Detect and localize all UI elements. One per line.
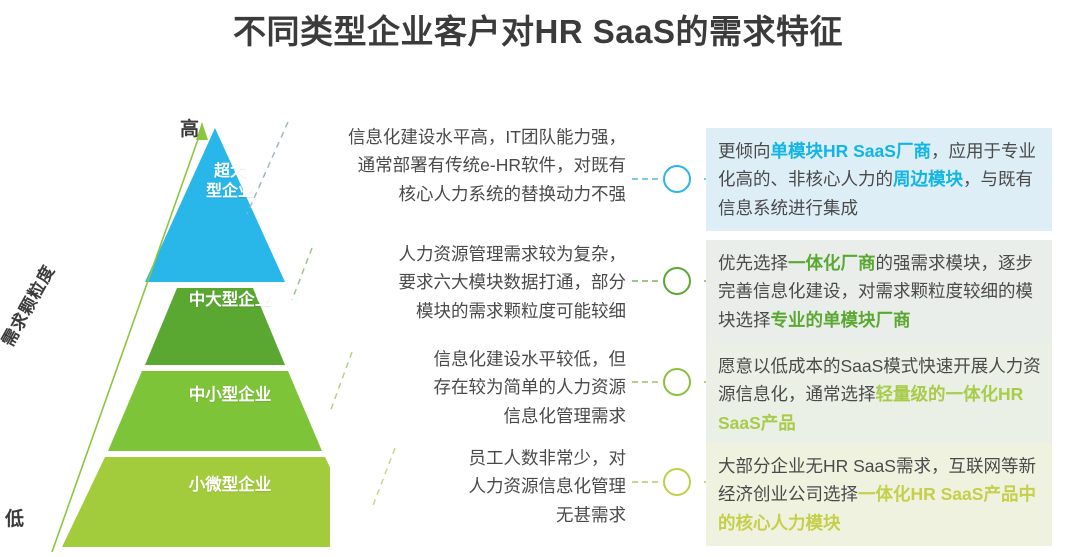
conclusion-panel-4: 大部分企业无HR SaaS需求，互联网等新经济创业公司选择一体化HR SaaS产… <box>706 443 1052 546</box>
axis-high-label: 高 <box>180 114 199 141</box>
description-text-2: 人力资源管理需求较为复杂， 要求六大模块数据打通，部分 模块的需求颗粒度可能较细 <box>336 240 626 325</box>
description-text-3: 信息化建设水平较低，但 存在较为简单的人力资源 信息化管理需求 <box>366 345 626 430</box>
pyramid-chart: 超大 型企业 中大型企业 中小型企业 小微型企业 高 低 需求颗粒度 <box>0 100 330 557</box>
connector-4-dash-left <box>632 481 658 483</box>
panel-1-segment-4: 周边模块 <box>893 169 963 189</box>
page-title: 不同类型企业客户对HR SaaS的需求特征 <box>0 8 1076 56</box>
axis-low-label: 低 <box>5 504 24 531</box>
conclusion-panel-2: 优先选择一体化厂商的强需求模块，逐步完善信息化建设，对需求颗粒度较细的模块选择专… <box>706 240 1052 343</box>
connector-2-dash-left <box>632 280 658 282</box>
conclusion-panel-3: 愿意以低成本的SaaS模式快速开展人力资源信息化，通常选择轻量级的一体化HR S… <box>706 343 1052 446</box>
infographic-page: 不同类型企业客户对HR SaaS的需求特征 超大 型企业 中大型企业 中小型企业… <box>0 0 1076 557</box>
connector-1-dash-left <box>632 178 658 180</box>
connector-4-circle <box>663 468 691 496</box>
pyramid-tier-3-shape <box>108 371 322 451</box>
panel-2-segment-4: 专业的单模块厂商 <box>771 310 911 330</box>
connector-1-circle <box>663 165 691 193</box>
pyramid-tier-4-shape <box>62 457 330 547</box>
description-text-1: 信息化建设水平高，IT团队能力强， 通常部署有传统e-HR软件，对既有 核心人力… <box>296 123 626 208</box>
connector-3-dash-left <box>632 381 658 383</box>
connector-2-circle <box>663 267 691 295</box>
panel-1-segment-2: 单模块HR SaaS厂商 <box>771 141 931 161</box>
pyramid-shapes <box>0 100 330 557</box>
pyramid-tier-1-shape <box>145 128 285 282</box>
connector-3-circle <box>663 368 691 396</box>
leader-line-3 <box>330 352 352 412</box>
panel-2-segment-2: 一体化厂商 <box>788 253 876 273</box>
description-text-4: 员工人数非常少，对 人力资源信息化管理 无甚需求 <box>386 444 626 529</box>
conclusion-panel-1: 更倾向单模块HR SaaS厂商，应用于专业化高的、非核心人力的周边模块，与既有信… <box>706 128 1052 231</box>
pyramid-tier-2-shape <box>145 288 285 365</box>
panel-2-segment-1: 优先选择 <box>718 253 788 273</box>
panel-1-segment-1: 更倾向 <box>718 141 771 161</box>
